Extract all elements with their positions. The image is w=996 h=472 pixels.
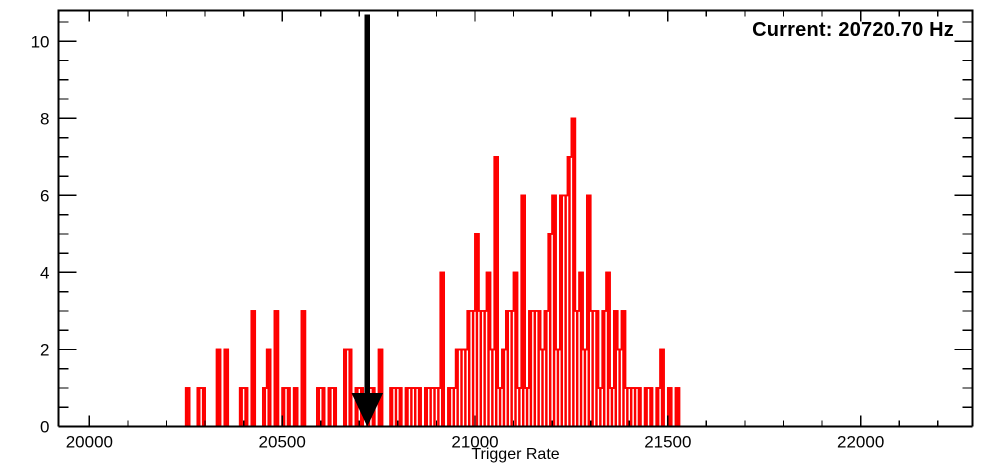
histogram-bin xyxy=(468,311,470,427)
histogram-bin xyxy=(395,388,397,427)
histogram-figure: 20000205002100021500220000246810 Trigger… xyxy=(0,0,996,472)
histogram-bin xyxy=(537,311,539,427)
y-tick-label: 6 xyxy=(40,186,49,205)
histogram-bin xyxy=(522,195,524,426)
histogram-bin xyxy=(599,388,601,427)
histogram-bin xyxy=(615,311,617,427)
histogram-bin xyxy=(572,118,574,426)
histogram-bin xyxy=(626,388,628,427)
histogram-bin xyxy=(541,349,543,426)
histogram-bin xyxy=(476,234,478,427)
histogram-bin xyxy=(580,272,582,426)
histogram-bin xyxy=(649,388,651,427)
histogram-bin xyxy=(561,195,563,426)
histogram-bin xyxy=(588,195,590,426)
histogram-bin xyxy=(661,349,663,426)
histogram-bin xyxy=(618,349,620,426)
histogram-bin xyxy=(676,388,678,427)
histogram-bin xyxy=(418,388,420,427)
histogram-bin xyxy=(348,349,350,426)
histogram-bin xyxy=(391,388,393,427)
histogram-bin xyxy=(460,349,462,426)
histogram-bin xyxy=(630,388,632,427)
histogram-bin xyxy=(507,311,509,427)
histogram-bin xyxy=(553,195,555,426)
histogram-bin xyxy=(495,157,497,427)
histogram-bin xyxy=(487,272,489,426)
histogram-bin xyxy=(406,388,408,427)
histogram-bin xyxy=(503,349,505,426)
histogram-bin xyxy=(607,272,609,426)
histogram-bin xyxy=(622,311,624,427)
x-tick-label: 20000 xyxy=(66,433,113,452)
histogram-bin xyxy=(329,388,331,427)
y-tick-label: 4 xyxy=(40,263,49,282)
histogram-bin xyxy=(410,388,412,427)
histogram-bin xyxy=(437,388,439,427)
histogram-bin xyxy=(287,388,289,427)
histogram-bin xyxy=(264,388,266,427)
histogram-bin xyxy=(638,388,640,427)
histogram-bin xyxy=(545,311,547,427)
histogram-bin xyxy=(564,195,566,426)
histogram-bin xyxy=(198,388,200,427)
histogram-bin xyxy=(399,388,401,427)
y-tick-label: 8 xyxy=(40,109,49,128)
histogram-bin xyxy=(252,311,254,427)
histogram-bin xyxy=(657,388,659,427)
histogram-bin xyxy=(591,311,593,427)
y-tick-label: 0 xyxy=(40,418,49,437)
x-tick-label: 20500 xyxy=(259,433,306,452)
x-axis-title: Trigger Rate xyxy=(471,446,559,463)
x-tick-label: 22000 xyxy=(837,433,884,452)
histogram-bin xyxy=(433,388,435,427)
histogram-bin xyxy=(283,388,285,427)
histogram-bin xyxy=(321,388,323,427)
histogram-series xyxy=(59,118,973,426)
histogram-bin xyxy=(634,388,636,427)
histogram-bin xyxy=(275,311,277,427)
histogram-bin xyxy=(453,388,455,427)
histogram-bin xyxy=(576,311,578,427)
histogram-bin xyxy=(302,311,304,427)
histogram-bin xyxy=(480,311,482,427)
status-badge-current-rate: Current: 20720.70 Hz xyxy=(752,19,954,42)
histogram-bin xyxy=(611,388,613,427)
histogram-bin xyxy=(294,388,296,427)
histogram-bin xyxy=(379,349,381,426)
histogram-bin xyxy=(414,388,416,427)
histogram-bin xyxy=(244,388,246,427)
x-tick-label: 21500 xyxy=(644,433,691,452)
histogram-bin xyxy=(514,272,516,426)
histogram-bin xyxy=(568,157,570,427)
histogram-bin xyxy=(449,388,451,427)
plot-canvas: 20000205002100021500220000246810 Trigger… xyxy=(0,0,996,472)
histogram-bin xyxy=(595,311,597,427)
histogram-bin xyxy=(603,311,605,427)
histogram-bin xyxy=(345,349,347,426)
histogram-bin xyxy=(557,349,559,426)
histogram-bin xyxy=(333,388,335,427)
histogram-bin xyxy=(549,234,551,427)
histogram-bin xyxy=(456,349,458,426)
y-tick-label: 2 xyxy=(40,340,49,359)
histogram-bin xyxy=(510,311,512,427)
histogram-bin xyxy=(518,388,520,427)
histogram-bin xyxy=(240,388,242,427)
histogram-bin xyxy=(202,388,204,427)
histogram-bin xyxy=(645,388,647,427)
histogram-bin xyxy=(429,388,431,427)
histogram-bin xyxy=(318,388,320,427)
histogram-bin xyxy=(534,311,536,427)
histogram-bin xyxy=(267,349,269,426)
histogram-bin xyxy=(217,349,219,426)
histogram-bin xyxy=(426,388,428,427)
histogram-bin xyxy=(530,311,532,427)
histogram-bin xyxy=(464,349,466,426)
histogram-bin xyxy=(483,311,485,427)
histogram-bin xyxy=(491,349,493,426)
histogram-bin xyxy=(472,311,474,427)
histogram-bin xyxy=(669,388,671,427)
histogram-bin xyxy=(584,349,586,426)
histogram-bin xyxy=(526,388,528,427)
histogram-bin xyxy=(186,388,188,427)
y-tick-label: 10 xyxy=(31,32,50,51)
histogram-bin xyxy=(499,388,501,427)
histogram-bin xyxy=(441,272,443,426)
histogram-bin xyxy=(225,349,227,426)
